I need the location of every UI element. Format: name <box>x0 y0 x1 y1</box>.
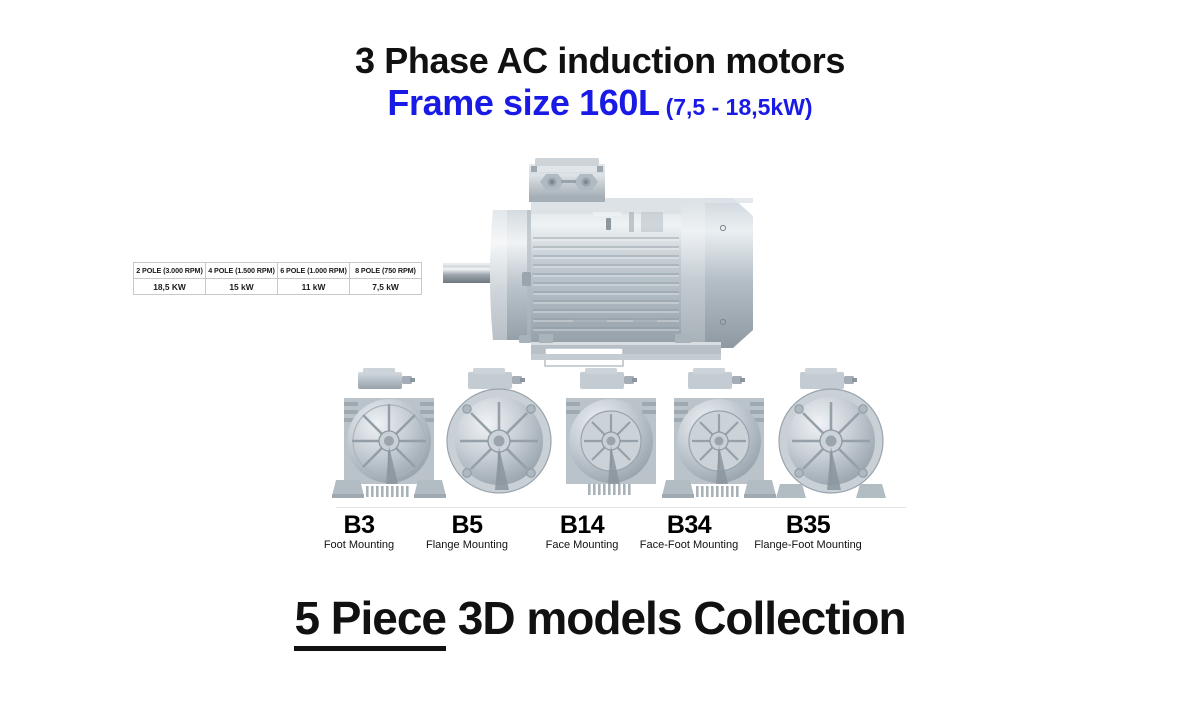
mounting-variants-row <box>330 362 910 512</box>
piece-count: 5 Piece <box>294 592 446 651</box>
pole-power-spec-table: 2 POLE (3.000 RPM) 4 POLE (1.500 RPM) 6 … <box>133 262 422 295</box>
bottom-fins <box>588 484 631 495</box>
bottom-fins <box>696 486 739 497</box>
collection-headline: 5 Piece 3D models Collection <box>0 591 1200 645</box>
motor-front-view-b35[interactable] <box>772 362 890 512</box>
mounting-description: Flange-Foot Mounting <box>718 539 898 551</box>
cable-gland-tip <box>852 378 857 382</box>
cable-gland-tip <box>632 378 637 382</box>
table-row-values: 18,5 KW 15 kW 11 kW 7,5 kW <box>134 279 422 295</box>
shaft-center <box>607 437 616 446</box>
mounting-labels: B3 Foot Mounting B5 Flange Mounting B14 … <box>330 512 910 557</box>
motor-fan-cowl <box>681 198 753 348</box>
motor-front-view-b5[interactable] <box>440 362 558 512</box>
terminal-box <box>688 372 732 389</box>
cable-gland-tip <box>520 378 525 382</box>
table-header-cell: 4 POLE (1.500 RPM) <box>206 263 278 279</box>
table-row-headers: 2 POLE (3.000 RPM) 4 POLE (1.500 RPM) 6 … <box>134 263 422 279</box>
mounting-label-b35: B35 Flange-Foot Mounting <box>718 512 898 551</box>
title-block: 3 Phase AC induction motors Frame size 1… <box>0 42 1200 122</box>
motor-stator-body <box>531 198 681 348</box>
terminal-box <box>468 372 512 389</box>
terminal-box-lid <box>585 368 617 374</box>
frame-size-label: Frame size 160L <box>387 82 659 123</box>
motor-shaft <box>443 263 495 283</box>
table-value-cell: 18,5 KW <box>134 279 206 295</box>
terminal-box <box>358 372 402 389</box>
shaft-center <box>494 436 505 447</box>
motor-front-view-b34[interactable] <box>660 362 778 512</box>
main-motor-render <box>443 152 793 377</box>
headline-rest: 3D models Collection <box>446 592 906 644</box>
subtitle-line: Frame size 160L(7,5 - 18,5kW) <box>0 84 1200 122</box>
shaft-center <box>826 436 837 447</box>
terminal-box <box>580 372 624 389</box>
terminal-box <box>800 372 844 389</box>
cable-gland-tip <box>740 378 745 382</box>
table-value-cell: 15 kW <box>206 279 278 295</box>
power-range-label: (7,5 - 18,5kW) <box>666 94 813 120</box>
motor-front-view-b3[interactable] <box>330 362 448 512</box>
table-header-cell: 8 POLE (750 RPM) <box>350 263 422 279</box>
bottom-fins <box>366 486 409 497</box>
mounting-code: B35 <box>718 512 898 538</box>
motor-front-view-b14[interactable] <box>552 362 670 512</box>
cable-gland-tip <box>410 378 415 382</box>
terminal-box-lid <box>473 368 505 374</box>
terminal-box <box>529 158 605 202</box>
table-value-cell: 11 kW <box>278 279 350 295</box>
shaft-center <box>715 437 724 446</box>
terminal-box-lid <box>693 368 725 374</box>
terminal-box-lid <box>805 368 837 374</box>
table-value-cell: 7,5 kW <box>350 279 422 295</box>
shaft-center <box>384 436 394 446</box>
ground-shadow-line <box>336 507 906 508</box>
table-header-cell: 2 POLE (3.000 RPM) <box>134 263 206 279</box>
motor-drive-end-bell <box>490 210 533 343</box>
terminal-box-lid <box>363 368 395 374</box>
page-title: 3 Phase AC induction motors <box>0 42 1200 80</box>
table-header-cell: 6 POLE (1.000 RPM) <box>278 263 350 279</box>
